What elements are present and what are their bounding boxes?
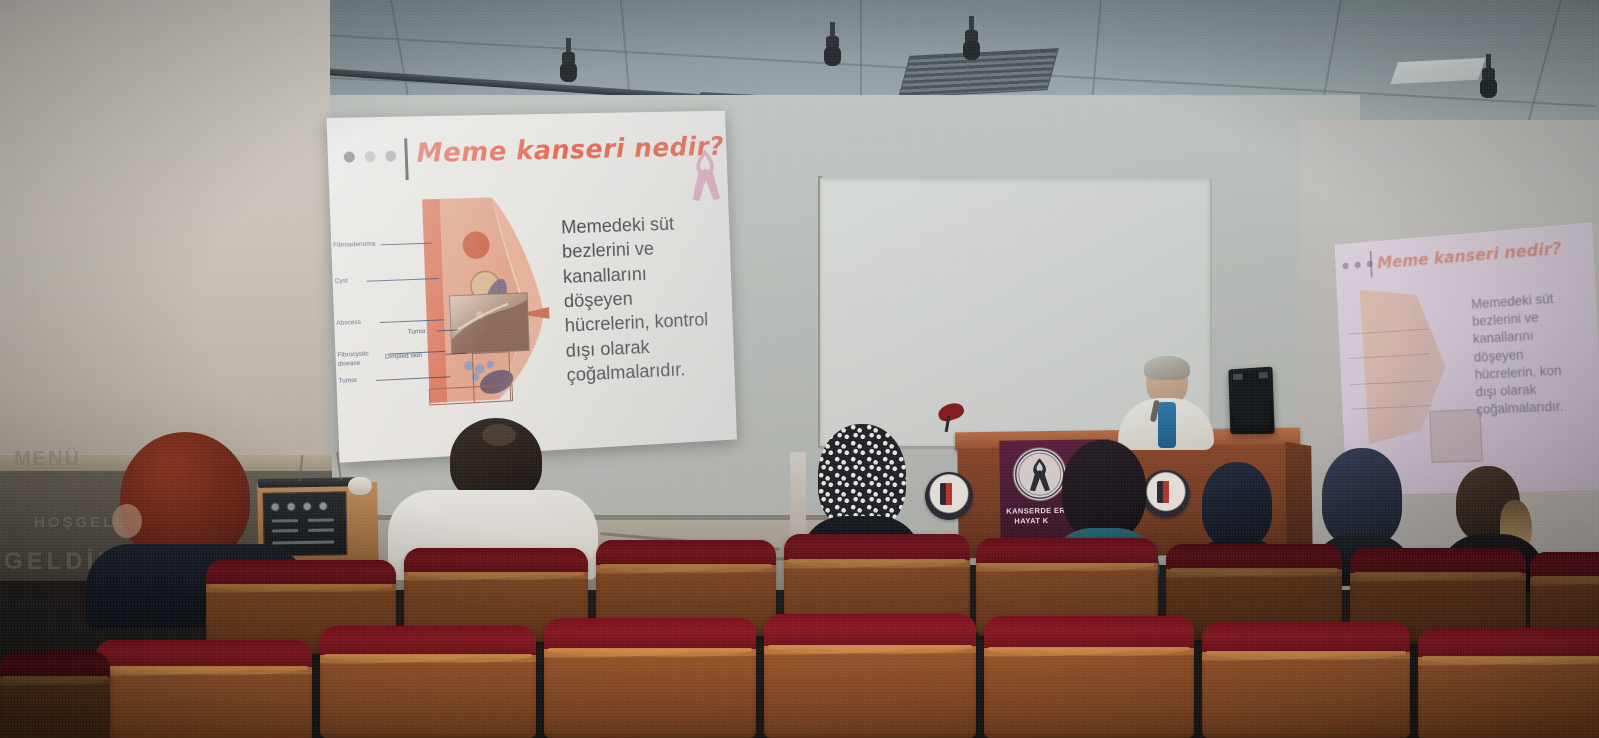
tumor-closeup-inset <box>449 292 530 354</box>
projection-screen-main: Meme kanseri nedir? <box>326 111 737 463</box>
ceiling-speaker-icon <box>348 477 372 495</box>
slide-title-divider <box>404 138 409 180</box>
slide-bullet-dots <box>344 150 397 162</box>
attendee-ear <box>112 504 142 538</box>
seat[interactable] <box>1418 628 1599 738</box>
podium-banner-line-2: HAYAT K <box>1014 516 1048 525</box>
attendee-bald-spot <box>482 424 516 446</box>
anatomy-label-disease: disease <box>338 360 361 369</box>
person-presenter <box>1118 358 1214 448</box>
wall-sign-line-1: MENÜ <box>14 448 81 471</box>
inset-label-tumor: Tumor <box>407 328 426 336</box>
presenter-laptop[interactable] <box>1228 367 1274 435</box>
slide-body-text: Memedeki süt bezlerini ve kanallarını dö… <box>561 211 737 389</box>
slide-title: Meme kanseri nedir? <box>416 132 700 169</box>
anatomy-label-abscess: Abscess <box>336 319 361 328</box>
secondary-slide-title: Meme kanseri nedir? <box>1377 239 1562 273</box>
presenter-desk-side <box>1285 442 1313 558</box>
seat[interactable] <box>984 616 1194 738</box>
seat[interactable] <box>320 626 536 738</box>
attendee-headscarf <box>1322 448 1402 546</box>
seat[interactable] <box>544 618 756 738</box>
secondary-body-text: Memedeki süt bezlerini ve kanallarını dö… <box>1471 285 1599 418</box>
presenter-hair <box>1144 356 1190 380</box>
pink-awareness-ribbon-icon <box>688 145 723 205</box>
anatomy-label-fibroadenoma: Fibroadenoma <box>333 241 375 250</box>
seat[interactable] <box>764 614 976 738</box>
anatomy-label-cyst: Cyst <box>335 277 348 285</box>
anatomy-label-tumor: Tumor <box>338 377 357 385</box>
seat[interactable] <box>0 652 110 738</box>
anatomy-label-fibrocystic: Fibrocystic <box>337 350 368 359</box>
seat[interactable] <box>96 640 312 738</box>
attendee-headscarf <box>818 424 906 530</box>
secondary-inset <box>1429 409 1483 463</box>
secondary-slide-dots <box>1342 260 1373 269</box>
seat[interactable] <box>1202 622 1410 738</box>
presenter-scrub-top <box>1158 402 1176 448</box>
institution-seal <box>925 472 973 520</box>
auditorium-scene: MENÜ HOŞGELDİNİZ GELDİNİZ Meme kanseri n… <box>0 0 1599 738</box>
attendee-hair <box>1062 440 1146 540</box>
